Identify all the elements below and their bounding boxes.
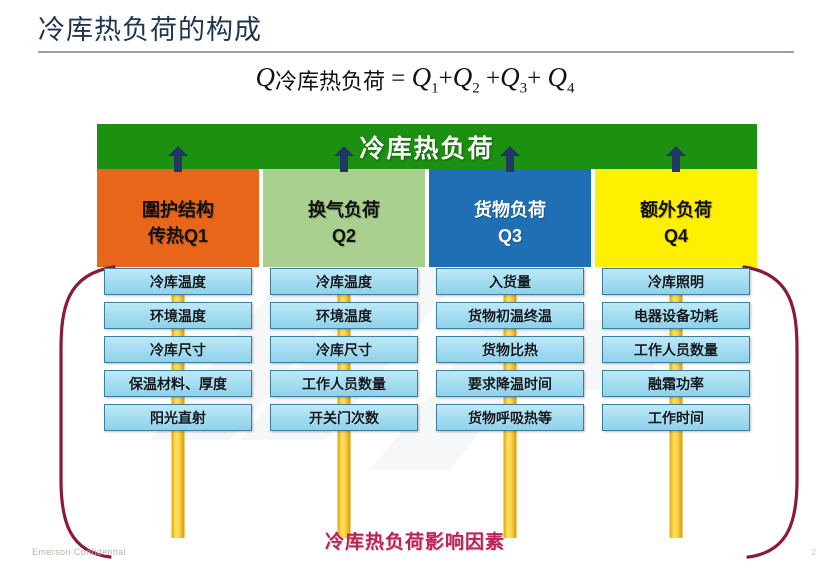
category-name-q4: 额外负荷 <box>640 197 712 223</box>
factor-column-q1: 冷库温度 环境温度 冷库尺寸 保温材料、厚度 阳光直射 <box>97 268 259 493</box>
category-code-q1: 传热Q1 <box>148 223 208 249</box>
factor-item[interactable]: 要求降温时间 <box>436 370 584 397</box>
factor-item[interactable]: 入货量 <box>436 268 584 295</box>
factor-item[interactable]: 阳光直射 <box>104 404 252 431</box>
formula-term-3: Q3 <box>500 62 527 92</box>
factor-label: 要求降温时间 <box>468 374 552 394</box>
factor-label: 冷库温度 <box>150 272 206 292</box>
factor-item[interactable]: 冷库照明 <box>602 268 750 295</box>
up-arrow-icon <box>666 146 686 172</box>
factor-label: 开关门次数 <box>309 408 379 428</box>
factor-label: 货物初温终温 <box>468 306 552 326</box>
caption-text: 冷库热负荷影响因素 <box>325 532 505 553</box>
category-name-q1: 圍护结构 <box>142 197 214 223</box>
footer-page-number: 2 <box>812 548 816 557</box>
factor-item[interactable]: 冷库温度 <box>270 268 418 295</box>
formula-lead-symbol: Q <box>256 62 276 92</box>
category-box-q4[interactable]: 额外负荷 Q4 <box>595 169 757 267</box>
factor-label: 冷库温度 <box>316 272 372 292</box>
factor-item[interactable]: 环境温度 <box>270 302 418 329</box>
factor-label: 融霜功率 <box>648 374 704 394</box>
master-load-label: 冷库热负荷 <box>359 129 494 165</box>
factor-item[interactable]: 冷库尺寸 <box>104 336 252 363</box>
factor-item[interactable]: 工作人员数量 <box>602 336 750 363</box>
category-code-q2: Q2 <box>332 223 356 249</box>
factor-columns: 冷库温度 环境温度 冷库尺寸 保温材料、厚度 阳光直射 冷库温度 环境温度 冷库… <box>97 268 757 493</box>
formula-lead-subscript: 冷库热负荷 <box>275 69 385 94</box>
category-row: 圍护结构 传热Q1 换气负荷 Q2 货物负荷 Q3 额外负荷 Q4 <box>97 169 757 267</box>
factor-label: 工作时间 <box>648 408 704 428</box>
factor-label: 工作人员数量 <box>302 374 386 394</box>
category-code-q3: Q3 <box>498 223 522 249</box>
page-title-block: 冷库热负荷的构成 <box>38 14 798 53</box>
factor-label: 阳光直射 <box>150 408 206 428</box>
up-arrow-icon <box>334 146 354 172</box>
factor-label: 冷库照明 <box>648 272 704 292</box>
formula-term-4: Q4 <box>547 62 574 92</box>
factor-label: 环境温度 <box>316 306 372 326</box>
factor-item[interactable]: 货物呼吸热等 <box>436 404 584 431</box>
factor-item[interactable]: 工作时间 <box>602 404 750 431</box>
factor-column-q3: 入货量 货物初温终温 货物比热 要求降温时间 货物呼吸热等 <box>429 268 591 493</box>
factor-item[interactable]: 电器设备功耗 <box>602 302 750 329</box>
category-box-q2[interactable]: 换气负荷 Q2 <box>263 169 425 267</box>
factor-item[interactable]: 融霜功率 <box>602 370 750 397</box>
formula-equals: = <box>391 65 405 92</box>
title-divider <box>38 51 794 53</box>
factor-item[interactable]: 开关门次数 <box>270 404 418 431</box>
factor-column-q4: 冷库照明 电器设备功耗 工作人员数量 融霜功率 工作时间 <box>595 268 757 493</box>
category-name-q3: 货物负荷 <box>474 197 546 223</box>
factor-label: 入货量 <box>489 272 531 292</box>
factor-item[interactable]: 冷库尺寸 <box>270 336 418 363</box>
up-arrow-icon <box>500 146 520 172</box>
factor-label: 保温材料、厚度 <box>129 374 227 394</box>
factor-column-q2: 冷库温度 环境温度 冷库尺寸 工作人员数量 开关门次数 <box>263 268 425 493</box>
slide-canvas: 冷库热负荷的构成 Q冷库热负荷 = Q1+Q2 +Q3+ Q4 冷库热负荷 圍护… <box>0 0 830 575</box>
factor-item[interactable]: 货物初温终温 <box>436 302 584 329</box>
factor-label: 冷库尺寸 <box>150 340 206 360</box>
formula-term-2: Q2 <box>453 62 480 92</box>
factor-item[interactable]: 保温材料、厚度 <box>104 370 252 397</box>
category-code-q4: Q4 <box>664 223 688 249</box>
factor-label: 电器设备功耗 <box>634 306 718 326</box>
factor-label: 冷库尺寸 <box>316 340 372 360</box>
formula-term-1: Q1 <box>412 62 439 92</box>
category-box-q3[interactable]: 货物负荷 Q3 <box>429 169 591 267</box>
footer-confidential: Emerson Confidential <box>32 547 126 557</box>
formula: Q冷库热负荷 = Q1+Q2 +Q3+ Q4 <box>0 62 830 97</box>
category-name-q2: 换气负荷 <box>308 197 380 223</box>
factor-item[interactable]: 工作人员数量 <box>270 370 418 397</box>
page-title: 冷库热负荷的构成 <box>38 14 798 48</box>
factor-item[interactable]: 货物比热 <box>436 336 584 363</box>
factor-label: 环境温度 <box>150 306 206 326</box>
factor-item[interactable]: 冷库温度 <box>104 268 252 295</box>
factor-label: 货物比热 <box>482 340 538 360</box>
category-box-q1[interactable]: 圍护结构 传热Q1 <box>97 169 259 267</box>
factor-label: 工作人员数量 <box>634 340 718 360</box>
factor-item[interactable]: 环境温度 <box>104 302 252 329</box>
factor-label: 货物呼吸热等 <box>468 408 552 428</box>
master-load-bar: 冷库热负荷 <box>97 124 757 169</box>
up-arrow-icon <box>168 146 188 172</box>
